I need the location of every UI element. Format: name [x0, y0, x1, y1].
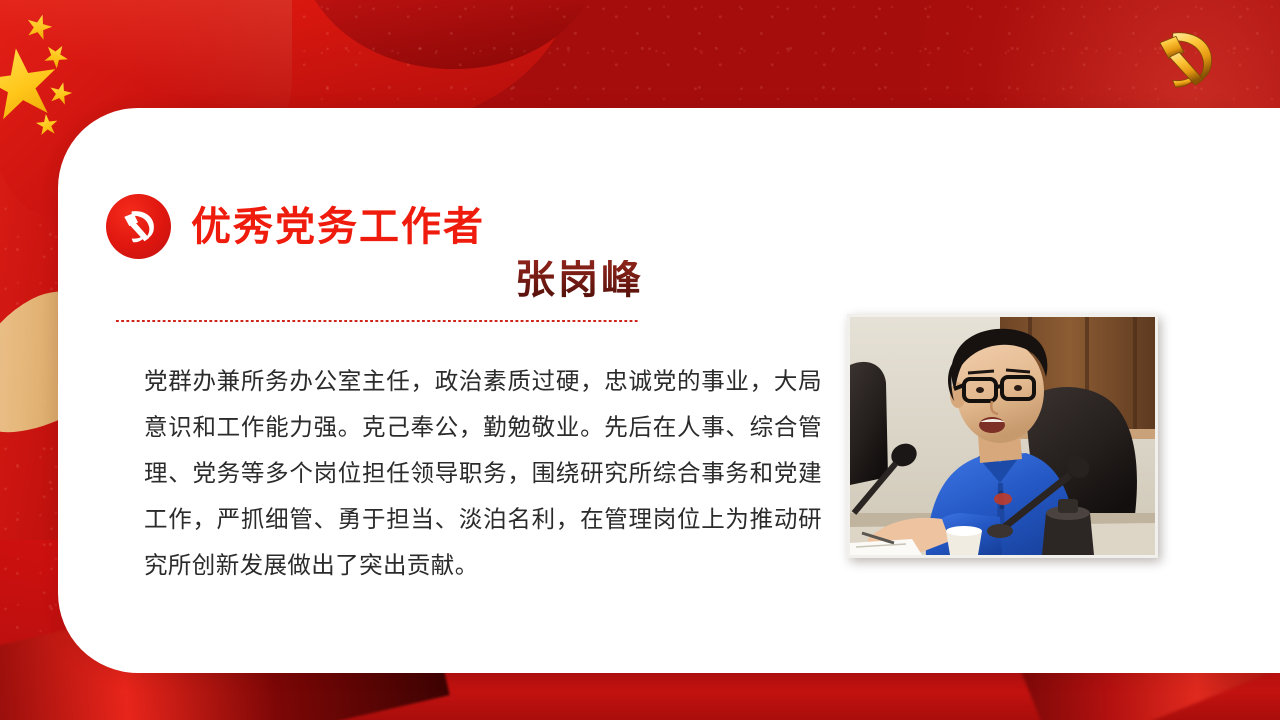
- party-hammer-sickle-gold-emblem-icon: [1144, 22, 1224, 90]
- flag-star-small-4: [35, 113, 59, 137]
- flag-star-small-2: [39, 39, 72, 72]
- slide-root: 优秀党务工作者 张岗峰 党群办兼所务办公室主任，政治素质过硬，忠诚党的事业，大局…: [0, 0, 1280, 720]
- flag-star-large: [0, 43, 63, 127]
- flag-star-small-3: [47, 80, 75, 108]
- divider: [116, 320, 640, 322]
- header-row: 优秀党务工作者: [106, 194, 485, 259]
- person-photo-frame: [847, 314, 1158, 558]
- content-card: 优秀党务工作者 张岗峰 党群办兼所务办公室主任，政治素质过硬，忠诚党的事业，大局…: [58, 108, 1236, 673]
- person-name: 张岗峰: [106, 260, 644, 300]
- party-hammer-sickle-circle-icon: [106, 194, 171, 259]
- person-photo: [850, 317, 1155, 555]
- page-title: 优秀党务工作者: [191, 207, 485, 247]
- flag-star-small-1: [23, 11, 55, 43]
- bio-paragraph: 党群办兼所务办公室主任，政治素质过硬，忠诚党的事业，大局意识和工作能力强。克己奉…: [144, 358, 822, 588]
